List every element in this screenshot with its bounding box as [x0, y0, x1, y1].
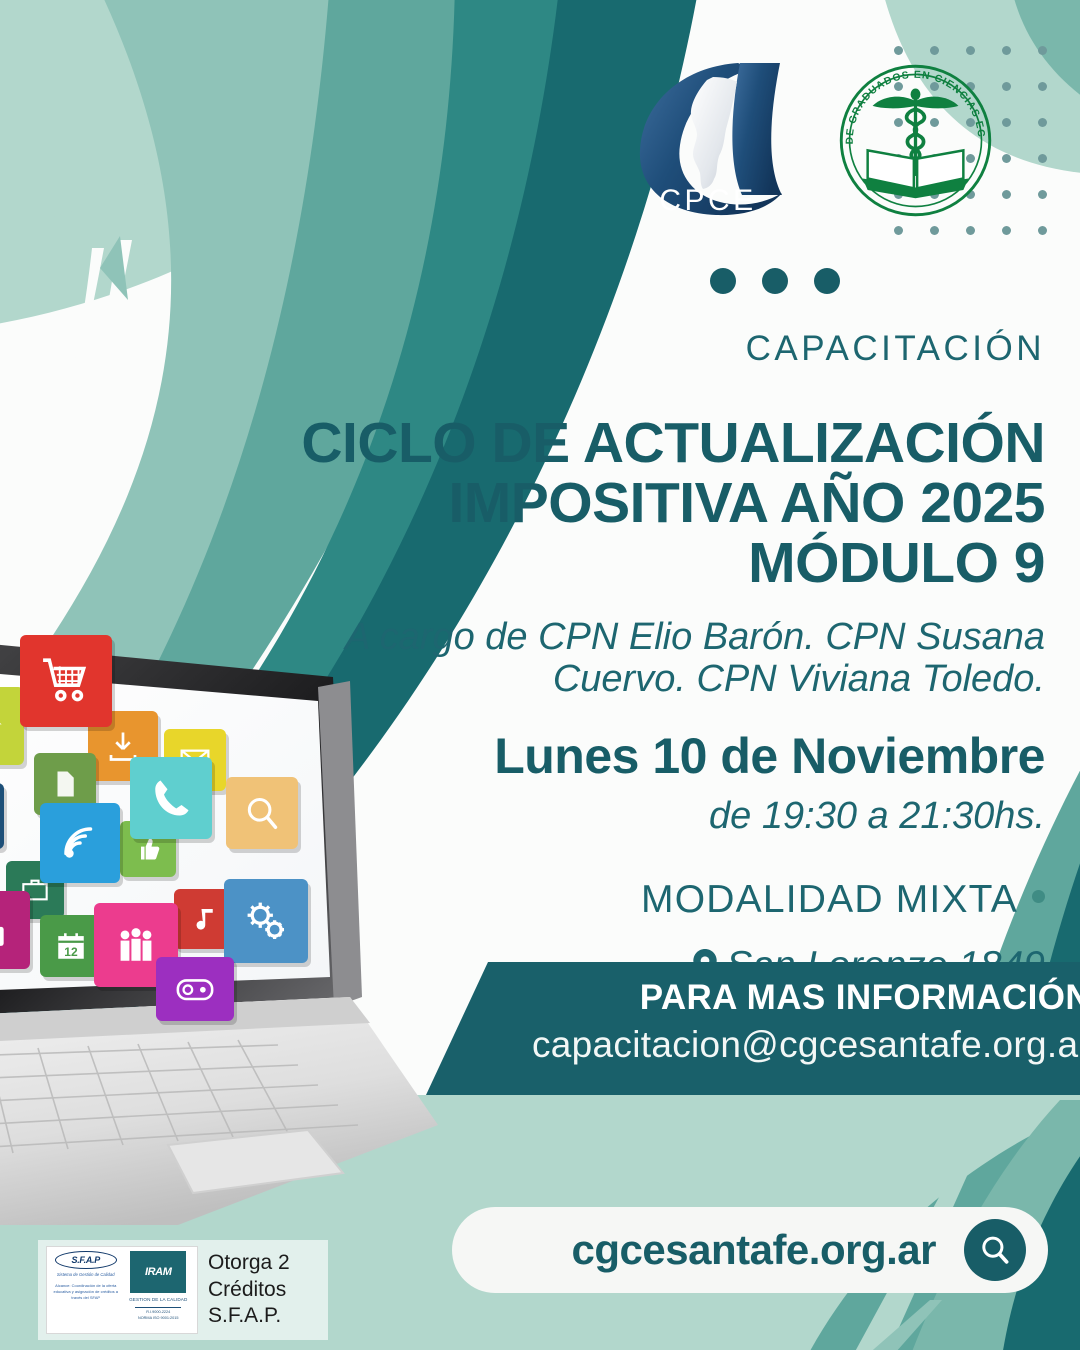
ribbon-mint-topleft	[0, 0, 420, 250]
sfap-caption: Sistema de Gestión de Calidad	[57, 1272, 115, 1278]
event-date: Lunes 10 de Noviembre	[285, 727, 1045, 785]
people-icon	[114, 923, 158, 967]
search-icon-button[interactable]	[964, 1219, 1026, 1281]
title-line-2: IMPOSITIVA AÑO 2025	[285, 473, 1045, 533]
modality-bullet-dot	[1032, 890, 1045, 903]
slash-mint-bottom-2	[850, 1300, 942, 1350]
app-tile-shopping-cart	[20, 635, 112, 727]
svg-text:12: 12	[64, 945, 78, 959]
title-line-1: CICLO DE ACTUALIZACIÓN	[285, 413, 1045, 473]
iram-logo: IRAM	[130, 1251, 186, 1293]
contact-banner: PARA MAS INFORMACIÓN capacitacion@cgcesa…	[426, 962, 1080, 1095]
event-modality: MODALIDAD MIXTA	[285, 878, 1045, 922]
speakers-line-2: Cuervo. CPN Viviana Toledo.	[285, 658, 1045, 701]
home-icon	[0, 706, 5, 746]
cgce-santa-fe-logo: COLEGIO DE GRADUADOS EN CIENCIAS ECONOMI…	[833, 58, 998, 223]
credits-line-3: S.F.A.P.	[208, 1303, 290, 1330]
certification-logos: S.F.A.P Sistema de Gestión de Calidad Al…	[46, 1246, 198, 1334]
poster-root: CPCE COLEGIO DE GRADUADOS EN CIENCIAS EC…	[0, 0, 1080, 1350]
credits-badge: S.F.A.P Sistema de Gestión de Calidad Al…	[38, 1240, 328, 1340]
contact-title: PARA MAS INFORMACIÓN	[426, 978, 1080, 1018]
cpce-logo: CPCE	[620, 55, 795, 225]
app-tile-wifi	[40, 803, 120, 883]
music-note-icon	[189, 904, 219, 934]
website-url[interactable]: cgcesantafe.org.ar	[572, 1226, 937, 1274]
wifi-icon	[59, 822, 101, 864]
app-tile-calendar: 12	[40, 915, 102, 977]
document-icon	[50, 769, 80, 799]
app-tile-phone	[130, 757, 212, 839]
three-dot-separator	[0, 268, 1045, 294]
search-icon	[243, 794, 281, 832]
app-tile-lock	[0, 891, 30, 969]
modality-label: MODALIDAD MIXTA	[641, 878, 1018, 921]
sfap-certification: S.F.A.P Sistema de Gestión de Calidad Al…	[51, 1251, 121, 1329]
main-content: CAPACITACIÓN CICLO DE ACTUALIZACIÓN IMPO…	[285, 330, 1045, 988]
eyebrow-label: CAPACITACIÓN	[285, 330, 1045, 369]
iram-divider	[135, 1307, 181, 1308]
sfap-logo: S.F.A.P	[55, 1251, 117, 1269]
contact-email[interactable]: capacitacion@cgcesantafe.org.ar	[426, 1024, 1080, 1066]
shopping-cart-icon	[41, 656, 91, 706]
calendar-icon: 12	[54, 929, 88, 963]
thumbs-up-icon	[134, 835, 162, 863]
app-tile-gamepad	[156, 957, 234, 1021]
app-tile-chat-icon	[0, 783, 4, 849]
logo-group: CPCE COLEGIO DE GRADUADOS EN CIENCIAS EC…	[620, 55, 998, 225]
event-time: de 19:30 a 21:30hs.	[285, 795, 1045, 838]
iram-caption: GESTION DE LA CALIDAD	[129, 1297, 187, 1304]
website-pill[interactable]: cgcesantafe.org.ar	[452, 1207, 1048, 1293]
gears-icon	[243, 898, 289, 944]
speakers-line-1: A cargo de CPN Elio Barón. CPN Susana	[285, 616, 1045, 659]
credits-line-2: Créditos	[208, 1277, 290, 1304]
credits-text: Otorga 2 Créditos S.F.A.P.	[208, 1250, 290, 1331]
search-icon	[978, 1233, 1012, 1267]
cpce-acronym: CPCE	[659, 184, 756, 217]
phone-icon	[150, 777, 192, 819]
lock-icon	[0, 911, 10, 949]
speakers-text: A cargo de CPN Elio Barón. CPN Susana Cu…	[285, 616, 1045, 701]
gamepad-icon	[175, 973, 215, 1005]
title-line-3: MÓDULO 9	[285, 533, 1045, 593]
credits-line-1: Otorga 2	[208, 1250, 290, 1277]
page-title: CICLO DE ACTUALIZACIÓN IMPOSITIVA AÑO 20…	[285, 413, 1045, 594]
iram-norm: NORMA ISO 9001:2015	[138, 1316, 179, 1322]
iram-certification: IRAM GESTION DE LA CALIDAD R.I.9000-2224…	[124, 1251, 194, 1329]
sfap-body-text: Alcance: Coordinación de la oferta educa…	[51, 1283, 121, 1301]
